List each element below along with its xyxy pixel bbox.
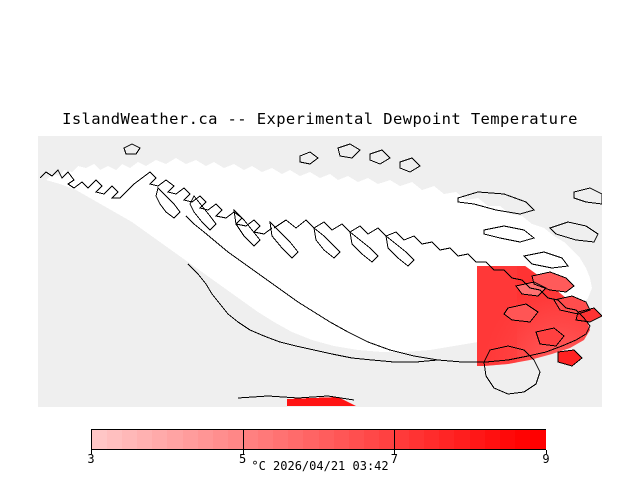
colorbar-segment: [228, 430, 244, 449]
colorbar-segment: [198, 430, 214, 449]
colorbar-segment: [183, 430, 199, 449]
colorbar-segment: [485, 430, 501, 449]
colorbar-segment: [152, 430, 168, 449]
colorbar-segment: [454, 430, 470, 449]
map-coastline-graphic: [38, 136, 602, 407]
weather-map-page: IslandWeather.ca -- Experimental Dewpoin…: [0, 0, 640, 480]
mainland-fragment-2: [574, 188, 602, 204]
island-small-4: [370, 150, 390, 164]
colorbar-segment: [364, 430, 380, 449]
colorbar-segment: [379, 430, 395, 449]
colorbar-segment: [243, 430, 259, 449]
map-panel[interactable]: [38, 136, 602, 407]
island-small-3: [338, 144, 360, 158]
colorbar-segment: [334, 430, 350, 449]
colorbar-segment: [122, 430, 138, 449]
colorbar-segment: [515, 430, 531, 449]
colorbar-tick-label: 7: [391, 452, 398, 466]
colorbar-segment: [394, 430, 410, 449]
gulf-island-shape-7: [558, 350, 582, 366]
colorbar-segment: [349, 430, 365, 449]
colorbar-segment: [288, 430, 304, 449]
colorbar-segment: [303, 430, 319, 449]
colorbar-segment: [213, 430, 229, 449]
colorbar-segment: [424, 430, 440, 449]
page-title: IslandWeather.ca -- Experimental Dewpoin…: [0, 110, 640, 128]
colorbar-segment: [409, 430, 425, 449]
island-small-1: [124, 144, 140, 154]
colorbar-major-tick: [394, 429, 395, 450]
colorbar-segment: [92, 430, 108, 449]
colorbar[interactable]: [91, 429, 546, 450]
colorbar-segment: [470, 430, 486, 449]
colorbar-segment: [439, 430, 455, 449]
colorbar-gradient: [91, 429, 546, 450]
colorbar-tick-label: 9: [542, 452, 549, 466]
colorbar-tick-label: 5: [239, 452, 246, 466]
colorbar-segment: [258, 430, 274, 449]
colorbar-segment: [500, 430, 516, 449]
colorbar-segment: [167, 430, 183, 449]
colorbar-segment: [530, 430, 546, 449]
colorbar-major-tick: [243, 429, 244, 450]
colorbar-segment: [319, 430, 335, 449]
colorbar-segment: [137, 430, 153, 449]
colorbar-segment: [107, 430, 123, 449]
colorbar-tick-label: 3: [87, 452, 94, 466]
colorbar-segment: [273, 430, 289, 449]
island-small-5: [400, 158, 420, 172]
island-small-2: [300, 152, 318, 164]
